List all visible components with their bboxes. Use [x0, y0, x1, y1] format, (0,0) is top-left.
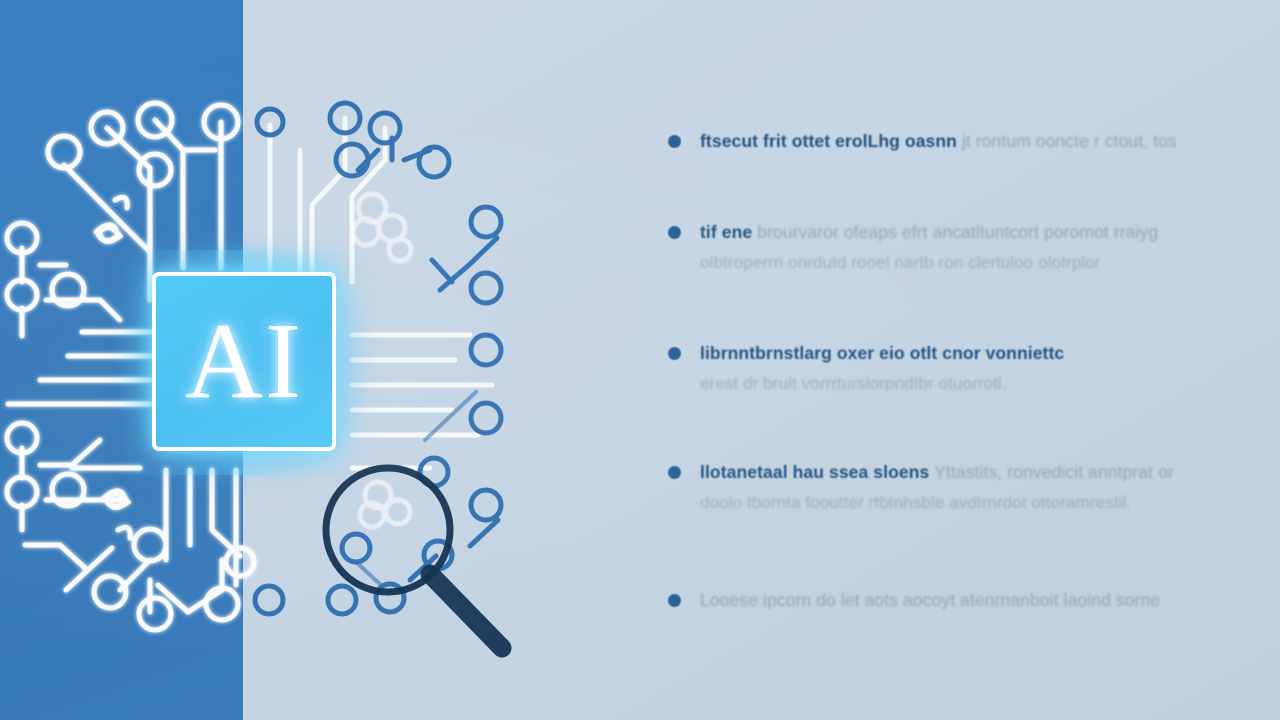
list-item[interactable]: librnntbrnstlarg oxer eio otlt cnor vonn… [668, 338, 1064, 399]
list-item-lead: librnntbrnstlarg oxer eio otlt cnor vonn… [700, 343, 1064, 363]
bullet-dot-icon [668, 347, 681, 360]
list-item-text: librnntbrnstlarg oxer eio otlt cnor vonn… [700, 338, 1064, 399]
list-item-subline: doolo tbornta fooutter rtbtnhsble avdtrn… [700, 493, 1131, 512]
list-item-subline: erest dr brult vorrrturslorpndtbr otuorr… [700, 374, 1007, 393]
list-item-text: llotanetaal hau ssea sloens Yttastits, r… [700, 457, 1174, 518]
list-item-text: ftsecut frit ottet erolLhg oasnn jt ront… [700, 126, 1177, 156]
list-item-lead: ftsecut frit ottet erolLhg oasnn [700, 131, 957, 151]
ai-chip-label: AI [185, 308, 303, 416]
bullet-dot-icon [668, 594, 681, 607]
list-item-rest: brourvaror ofeaps efrt ancatltuntcort po… [757, 222, 1158, 242]
magnifying-glass-icon [312, 452, 522, 664]
ai-chip-icon: AI [152, 272, 336, 451]
list-item-rest: jt rontum ooncte r ctout, tos [962, 131, 1177, 151]
list-item[interactable]: tif ene brourvaror ofeaps efrt ancatltun… [668, 217, 1158, 278]
list-item-subline: olbtroperrn onrdutd rooel nartb ron cler… [700, 253, 1101, 272]
list-item-text: tif ene brourvaror ofeaps efrt ancatltun… [700, 217, 1158, 278]
infographic-canvas: AI ftsecut frit ottet erolLhg oasnn jt r… [0, 0, 1280, 720]
list-item-lead: tif ene [700, 222, 752, 242]
list-item[interactable]: llotanetaal hau ssea sloens Yttastits, r… [668, 457, 1174, 518]
bullet-dot-icon [668, 466, 681, 479]
bullet-dot-icon [668, 226, 681, 239]
bullet-dot-icon [668, 135, 681, 148]
list-item-text: Looese ipcorn do let aots aocoyt atenrna… [700, 585, 1160, 615]
list-item[interactable]: ftsecut frit ottet erolLhg oasnn jt ront… [668, 126, 1177, 156]
list-item-rest: Looese ipcorn do let aots aocoyt atenrna… [700, 590, 1160, 610]
list-item-rest: Yttastits, ronvedicit anntprat or [934, 462, 1174, 482]
bullet-list: ftsecut frit ottet erolLhg oasnn jt ront… [668, 100, 1280, 660]
list-item-lead: llotanetaal hau ssea sloens [700, 462, 929, 482]
list-item[interactable]: Looese ipcorn do let aots aocoyt atenrna… [668, 585, 1160, 615]
